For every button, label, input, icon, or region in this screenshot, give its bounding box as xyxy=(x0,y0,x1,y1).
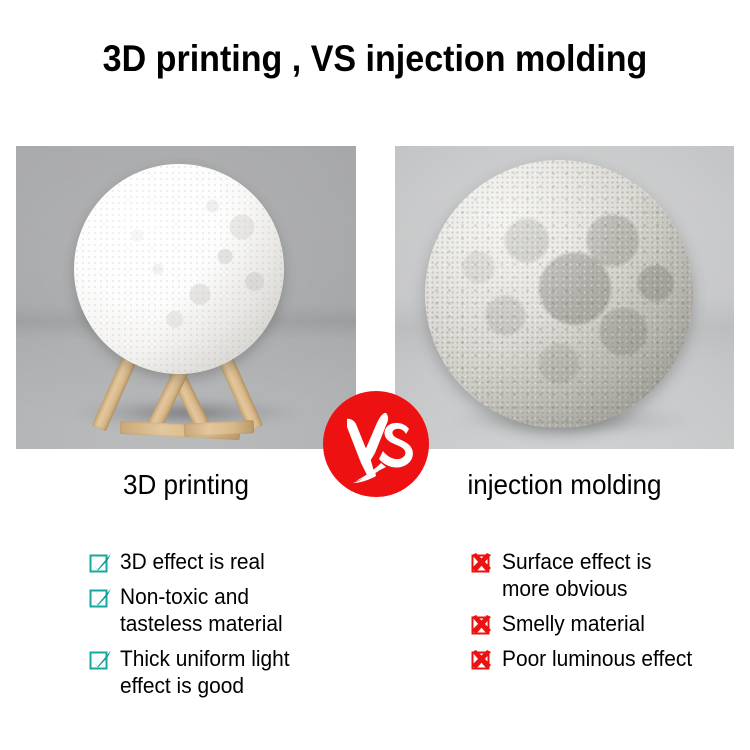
cross-icon xyxy=(470,551,494,575)
list-item: Poor luminous effect xyxy=(470,645,738,672)
sphere-texture xyxy=(74,164,284,374)
product-photo-3d-printing xyxy=(16,146,356,449)
list-item-label: Thick uniform light effect is good xyxy=(120,645,290,699)
list-item: Non-toxic and tasteless material xyxy=(88,583,358,637)
page-title: 3D printing , VS injection molding xyxy=(30,36,720,82)
sphere-shading xyxy=(425,160,693,428)
check-icon xyxy=(88,586,112,610)
caption-3d-printing: 3D printing xyxy=(28,468,344,502)
moon-lamp-sphere xyxy=(74,164,284,374)
list-item-label: 3D effect is real xyxy=(120,548,265,575)
caption-injection-molding: injection molding xyxy=(407,468,722,502)
product-photo-injection-molding xyxy=(395,146,734,449)
check-icon xyxy=(88,648,112,672)
molded-moon-sphere xyxy=(425,160,693,428)
feature-list-injection-molding: Surface effect is more obvious Smelly ma… xyxy=(470,548,738,680)
list-item-label: Non-toxic and tasteless material xyxy=(120,583,283,637)
cross-icon xyxy=(470,648,494,672)
list-item: Surface effect is more obvious xyxy=(470,548,738,602)
feature-list-3d-printing: 3D effect is real Non-toxic and tasteles… xyxy=(88,548,358,707)
vs-badge-icon xyxy=(323,391,429,497)
list-item-label: Poor luminous effect xyxy=(502,645,692,672)
list-item: Smelly material xyxy=(470,610,738,637)
comparison-photo-row xyxy=(0,146,750,449)
list-item-label: Smelly material xyxy=(502,610,645,637)
sphere-shading xyxy=(74,164,284,374)
list-item: 3D effect is real xyxy=(88,548,358,575)
cross-icon xyxy=(470,613,494,637)
list-item-label: Surface effect is more obvious xyxy=(502,548,651,602)
check-icon xyxy=(88,551,112,575)
list-item: Thick uniform light effect is good xyxy=(88,645,358,699)
